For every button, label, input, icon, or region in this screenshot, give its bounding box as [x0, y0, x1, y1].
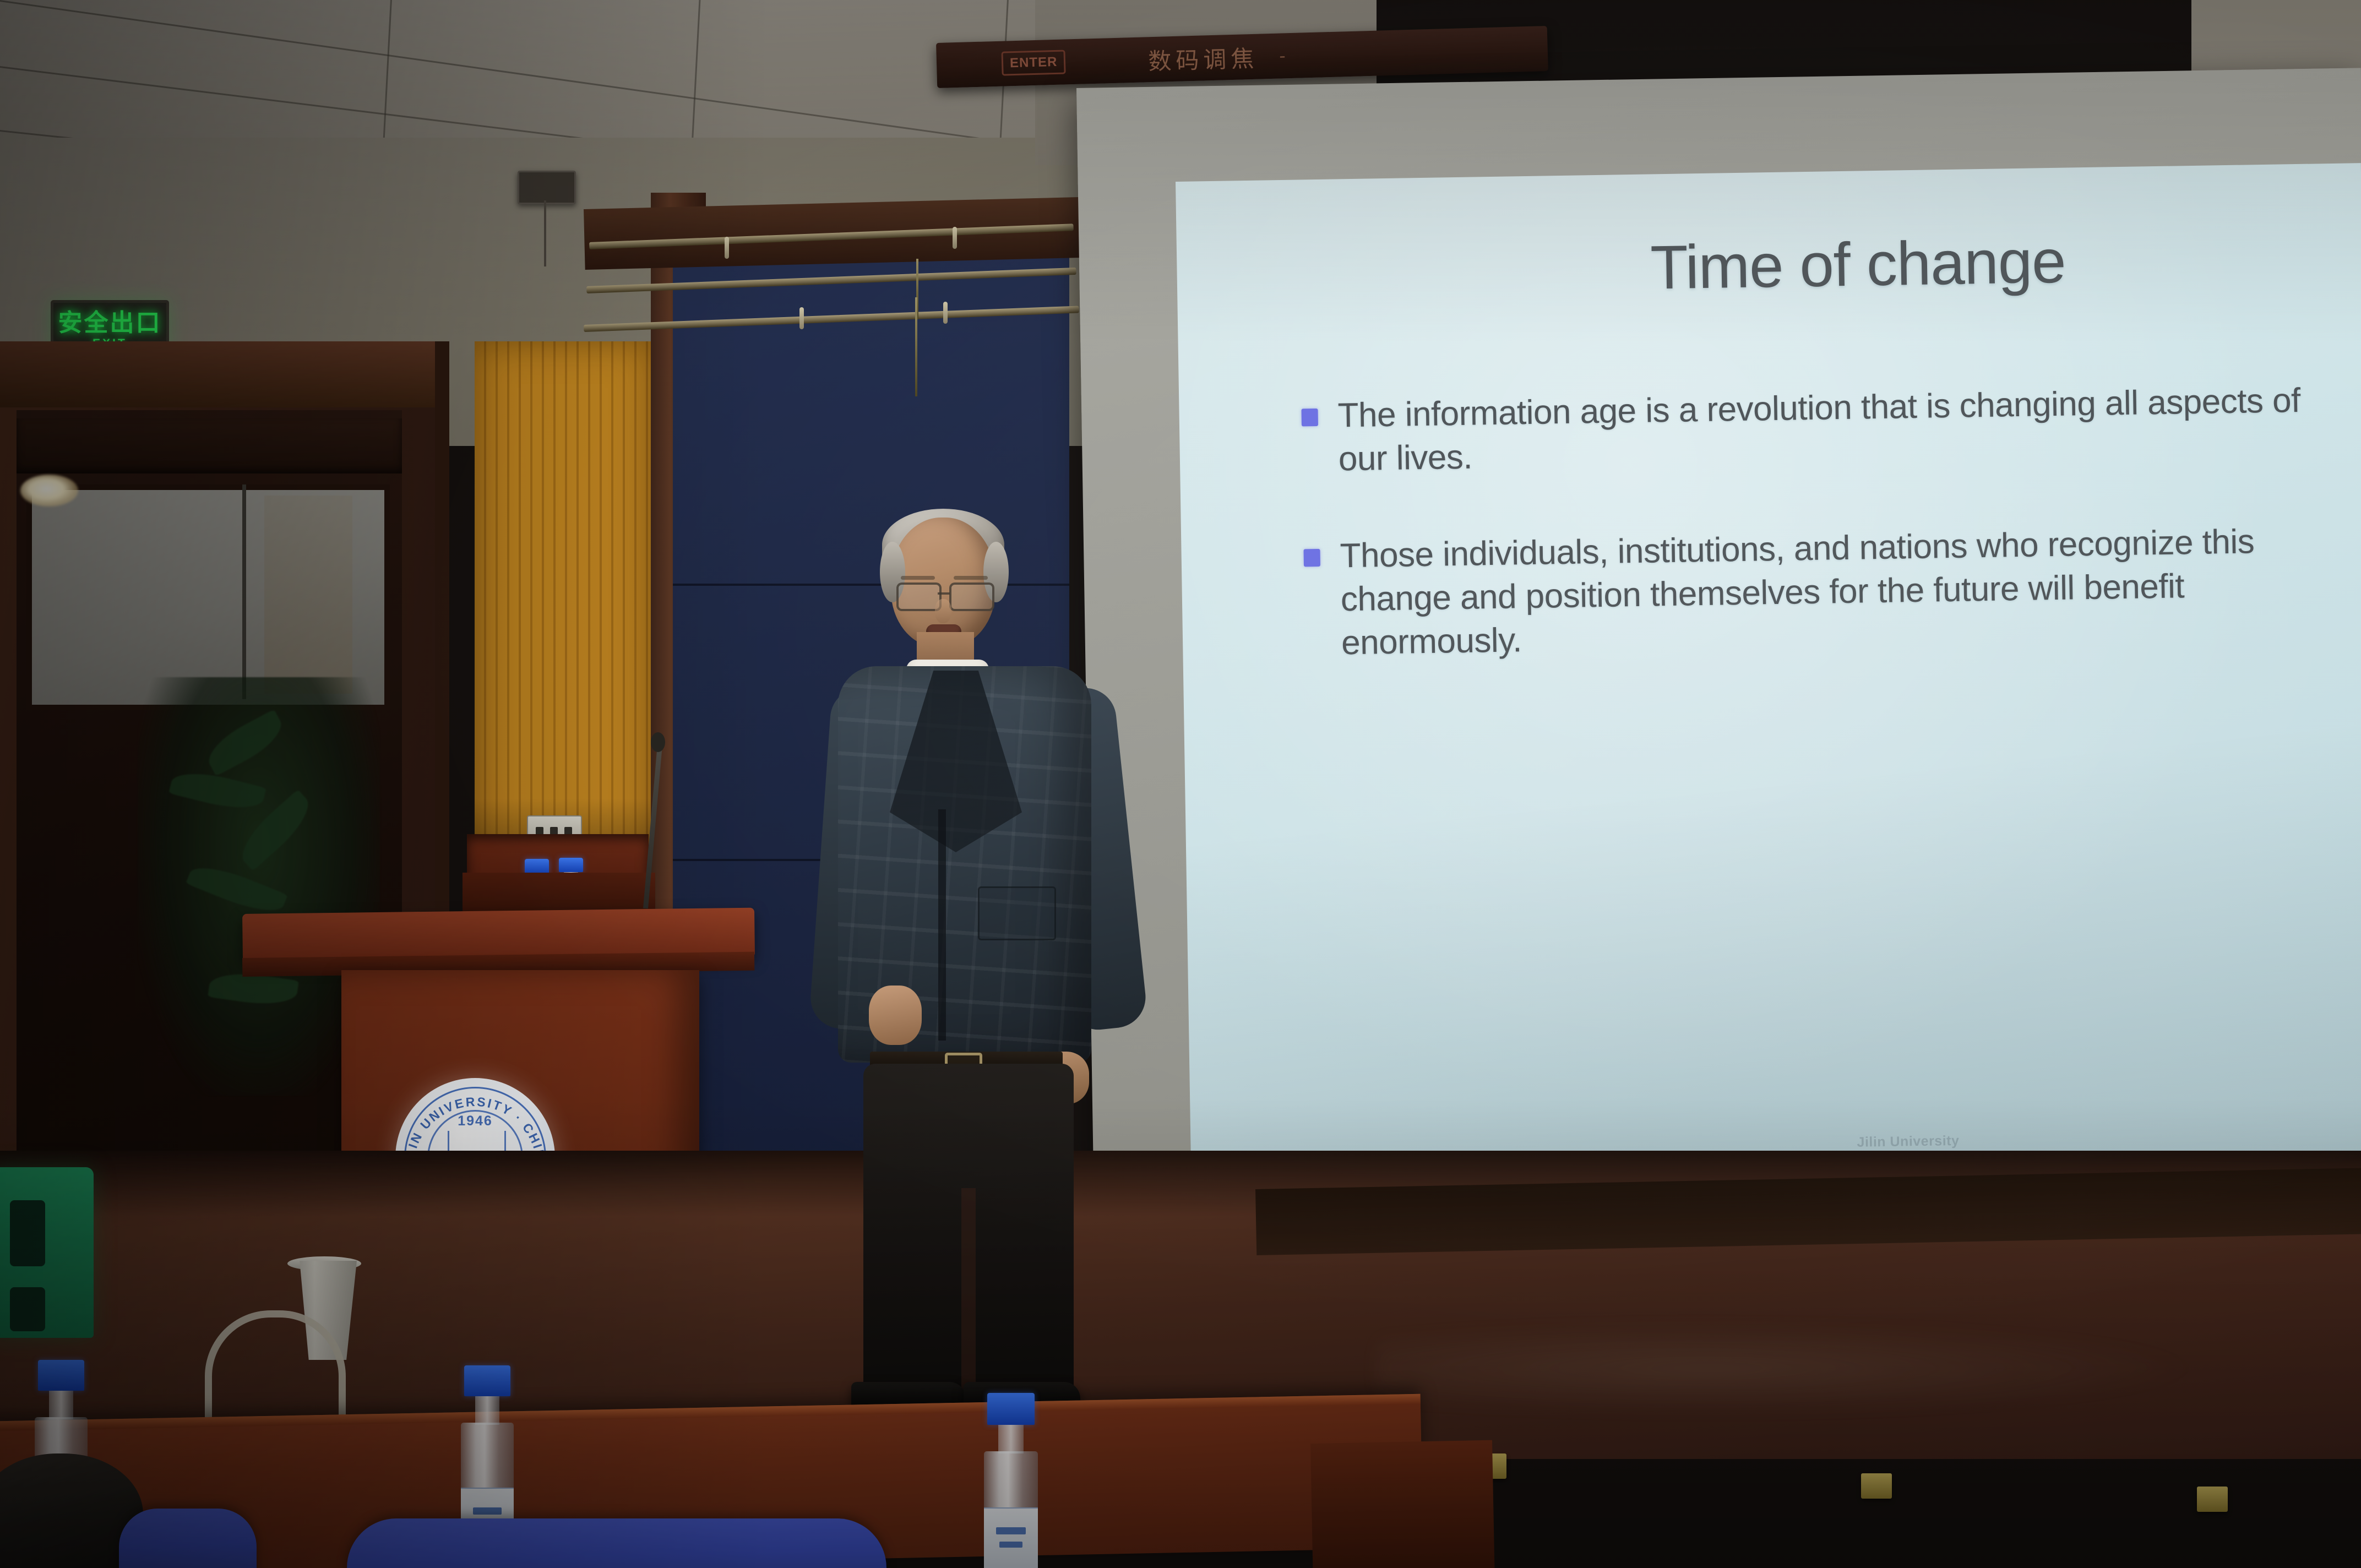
- list-item: Those individuals, institutions, and nat…: [1303, 519, 2341, 666]
- curtain-hook: [953, 227, 957, 249]
- exit-sign-chinese-label: 安全出口: [58, 311, 162, 335]
- floor-scuff-mark: [1377, 1321, 2202, 1415]
- glasses-lens-right: [949, 582, 994, 611]
- curtain-hook: [943, 302, 948, 324]
- slide-bullet-list: The information age is a revolution that…: [1301, 378, 2341, 718]
- floor-outlet-cover[interactable]: [1861, 1473, 1892, 1499]
- emblem-year: 1946: [395, 1113, 555, 1129]
- speaker-person: [804, 501, 1145, 1448]
- glasses-bridge: [938, 592, 950, 595]
- curtain-hook: [799, 307, 804, 329]
- front-row-table-side: [1310, 1440, 1495, 1568]
- wall-sensor-cord: [544, 200, 546, 266]
- water-bottle[interactable]: [980, 1393, 1042, 1568]
- hand-left: [869, 986, 922, 1045]
- light-reflection-glow: [20, 475, 78, 507]
- bullet-square-icon: [1304, 549, 1320, 567]
- door-transom: [17, 418, 402, 473]
- bullet-text: Those individuals, institutions, and nat…: [1340, 519, 2341, 666]
- projector-dash-label: -: [1279, 45, 1286, 67]
- slide-title: Time of change: [1650, 226, 2066, 303]
- slide-footer-text: Jilin University: [1857, 1133, 1959, 1151]
- curtain-chain: [915, 297, 917, 396]
- audience-chair[interactable]: [119, 1509, 257, 1568]
- cable-loop: [205, 1310, 346, 1428]
- list-item: The information age is a revolution that…: [1301, 378, 2337, 482]
- enter-button-badge[interactable]: ENTER: [1001, 50, 1066, 75]
- leg-gap: [961, 1188, 976, 1408]
- nose: [935, 599, 951, 623]
- bullet-square-icon: [1302, 409, 1318, 426]
- door-header: [0, 341, 435, 407]
- projected-slide: Time of change The information age is a …: [1176, 163, 2361, 1214]
- bullet-text: The information age is a revolution that…: [1337, 378, 2337, 481]
- shirt-placket: [938, 809, 946, 1041]
- wall-sensor-icon: [518, 171, 576, 204]
- green-plastic-stool[interactable]: [0, 1167, 94, 1338]
- shirt-pocket: [978, 886, 1056, 940]
- lecture-hall-photo: 安全出口 EXIT ENTER 数码调焦 -: [0, 0, 2361, 1568]
- audience-chair[interactable]: [347, 1518, 886, 1568]
- floor-outlet-cover[interactable]: [2197, 1487, 2228, 1512]
- door-window-mullion: [242, 484, 246, 699]
- door-window-shade: [264, 496, 352, 694]
- microphone-icon: [651, 732, 665, 752]
- projector-chinese-label: 数码调焦: [1147, 40, 1259, 77]
- curtain-hook: [725, 237, 729, 259]
